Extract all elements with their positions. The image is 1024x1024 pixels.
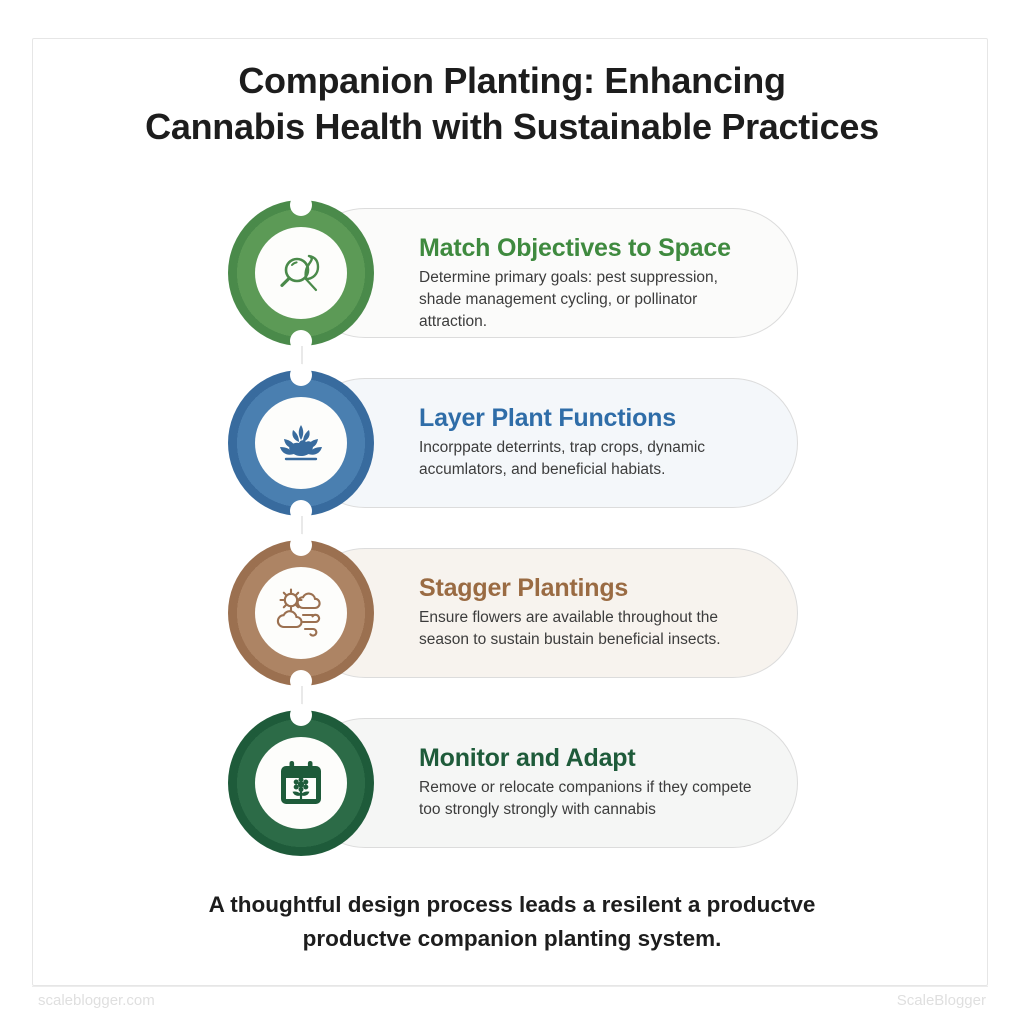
step-item: Layer Plant Functions Incorppate deterri… — [0, 370, 1024, 540]
layered-leaves-icon — [273, 415, 329, 471]
step-badge-4 — [228, 710, 374, 856]
step-desc-4: Remove or relocate companions if they co… — [419, 777, 757, 821]
step-icon-holder-3 — [255, 567, 347, 659]
conclusion-line-1: A thoughtful design process leads a resi… — [112, 888, 912, 922]
step-card-3[interactable]: Stagger Plantings Ensure flowers are ava… — [300, 548, 798, 678]
watermark-brand: ScaleBlogger — [897, 992, 986, 1009]
infographic-canvas: Companion Planting: Enhancing Cannabis H… — [0, 0, 1024, 1024]
step-item: Match Objectives to Space Determine prim… — [0, 200, 1024, 370]
footer-divider — [32, 986, 988, 987]
step-desc-1: Determine primary goals: pest suppressio… — [419, 267, 757, 333]
step-icon-holder-1 — [255, 227, 347, 319]
step-desc-2: Incorppate deterrints, trap crops, dynam… — [419, 437, 757, 481]
step-title-3: Stagger Plantings — [419, 573, 757, 603]
page-title-line-2: Cannabis Health with Sustainable Practic… — [62, 104, 962, 150]
step-title-1: Match Objectives to Space — [419, 233, 757, 263]
page-title: Companion Planting: Enhancing Cannabis H… — [62, 58, 962, 150]
calendar-flower-icon — [273, 755, 329, 811]
step-card-4[interactable]: Monitor and Adapt Remove or relocate com… — [300, 718, 798, 848]
step-badge-2 — [228, 370, 374, 516]
step-badge-3 — [228, 540, 374, 686]
steps-list: Match Objectives to Space Determine prim… — [0, 200, 1024, 880]
magnifier-leaf-icon — [273, 245, 329, 301]
step-badge-1 — [228, 200, 374, 346]
step-card-1[interactable]: Match Objectives to Space Determine prim… — [300, 208, 798, 338]
step-icon-holder-2 — [255, 397, 347, 489]
step-card-2[interactable]: Layer Plant Functions Incorppate deterri… — [300, 378, 798, 508]
step-icon-holder-4 — [255, 737, 347, 829]
step-item: Monitor and Adapt Remove or relocate com… — [0, 710, 1024, 880]
step-title-4: Monitor and Adapt — [419, 743, 757, 773]
connector-dot-top — [290, 364, 312, 386]
connector-dot-top — [290, 534, 312, 556]
conclusion-text: A thoughtful design process leads a resi… — [112, 888, 912, 956]
conclusion-line-2: productve companion planting system. — [112, 922, 912, 956]
step-connector — [301, 346, 303, 366]
step-item: Stagger Plantings Ensure flowers are ava… — [0, 540, 1024, 710]
sun-cloud-wind-icon — [272, 584, 330, 642]
step-connector — [301, 516, 303, 536]
step-desc-3: Ensure flowers are available throughout … — [419, 607, 757, 651]
connector-dot-top — [290, 194, 312, 216]
step-title-2: Layer Plant Functions — [419, 403, 757, 433]
step-connector — [301, 686, 303, 706]
page-title-line-1: Companion Planting: Enhancing — [62, 58, 962, 104]
connector-dot-top — [290, 704, 312, 726]
watermark-url: scaleblogger.com — [38, 992, 155, 1009]
